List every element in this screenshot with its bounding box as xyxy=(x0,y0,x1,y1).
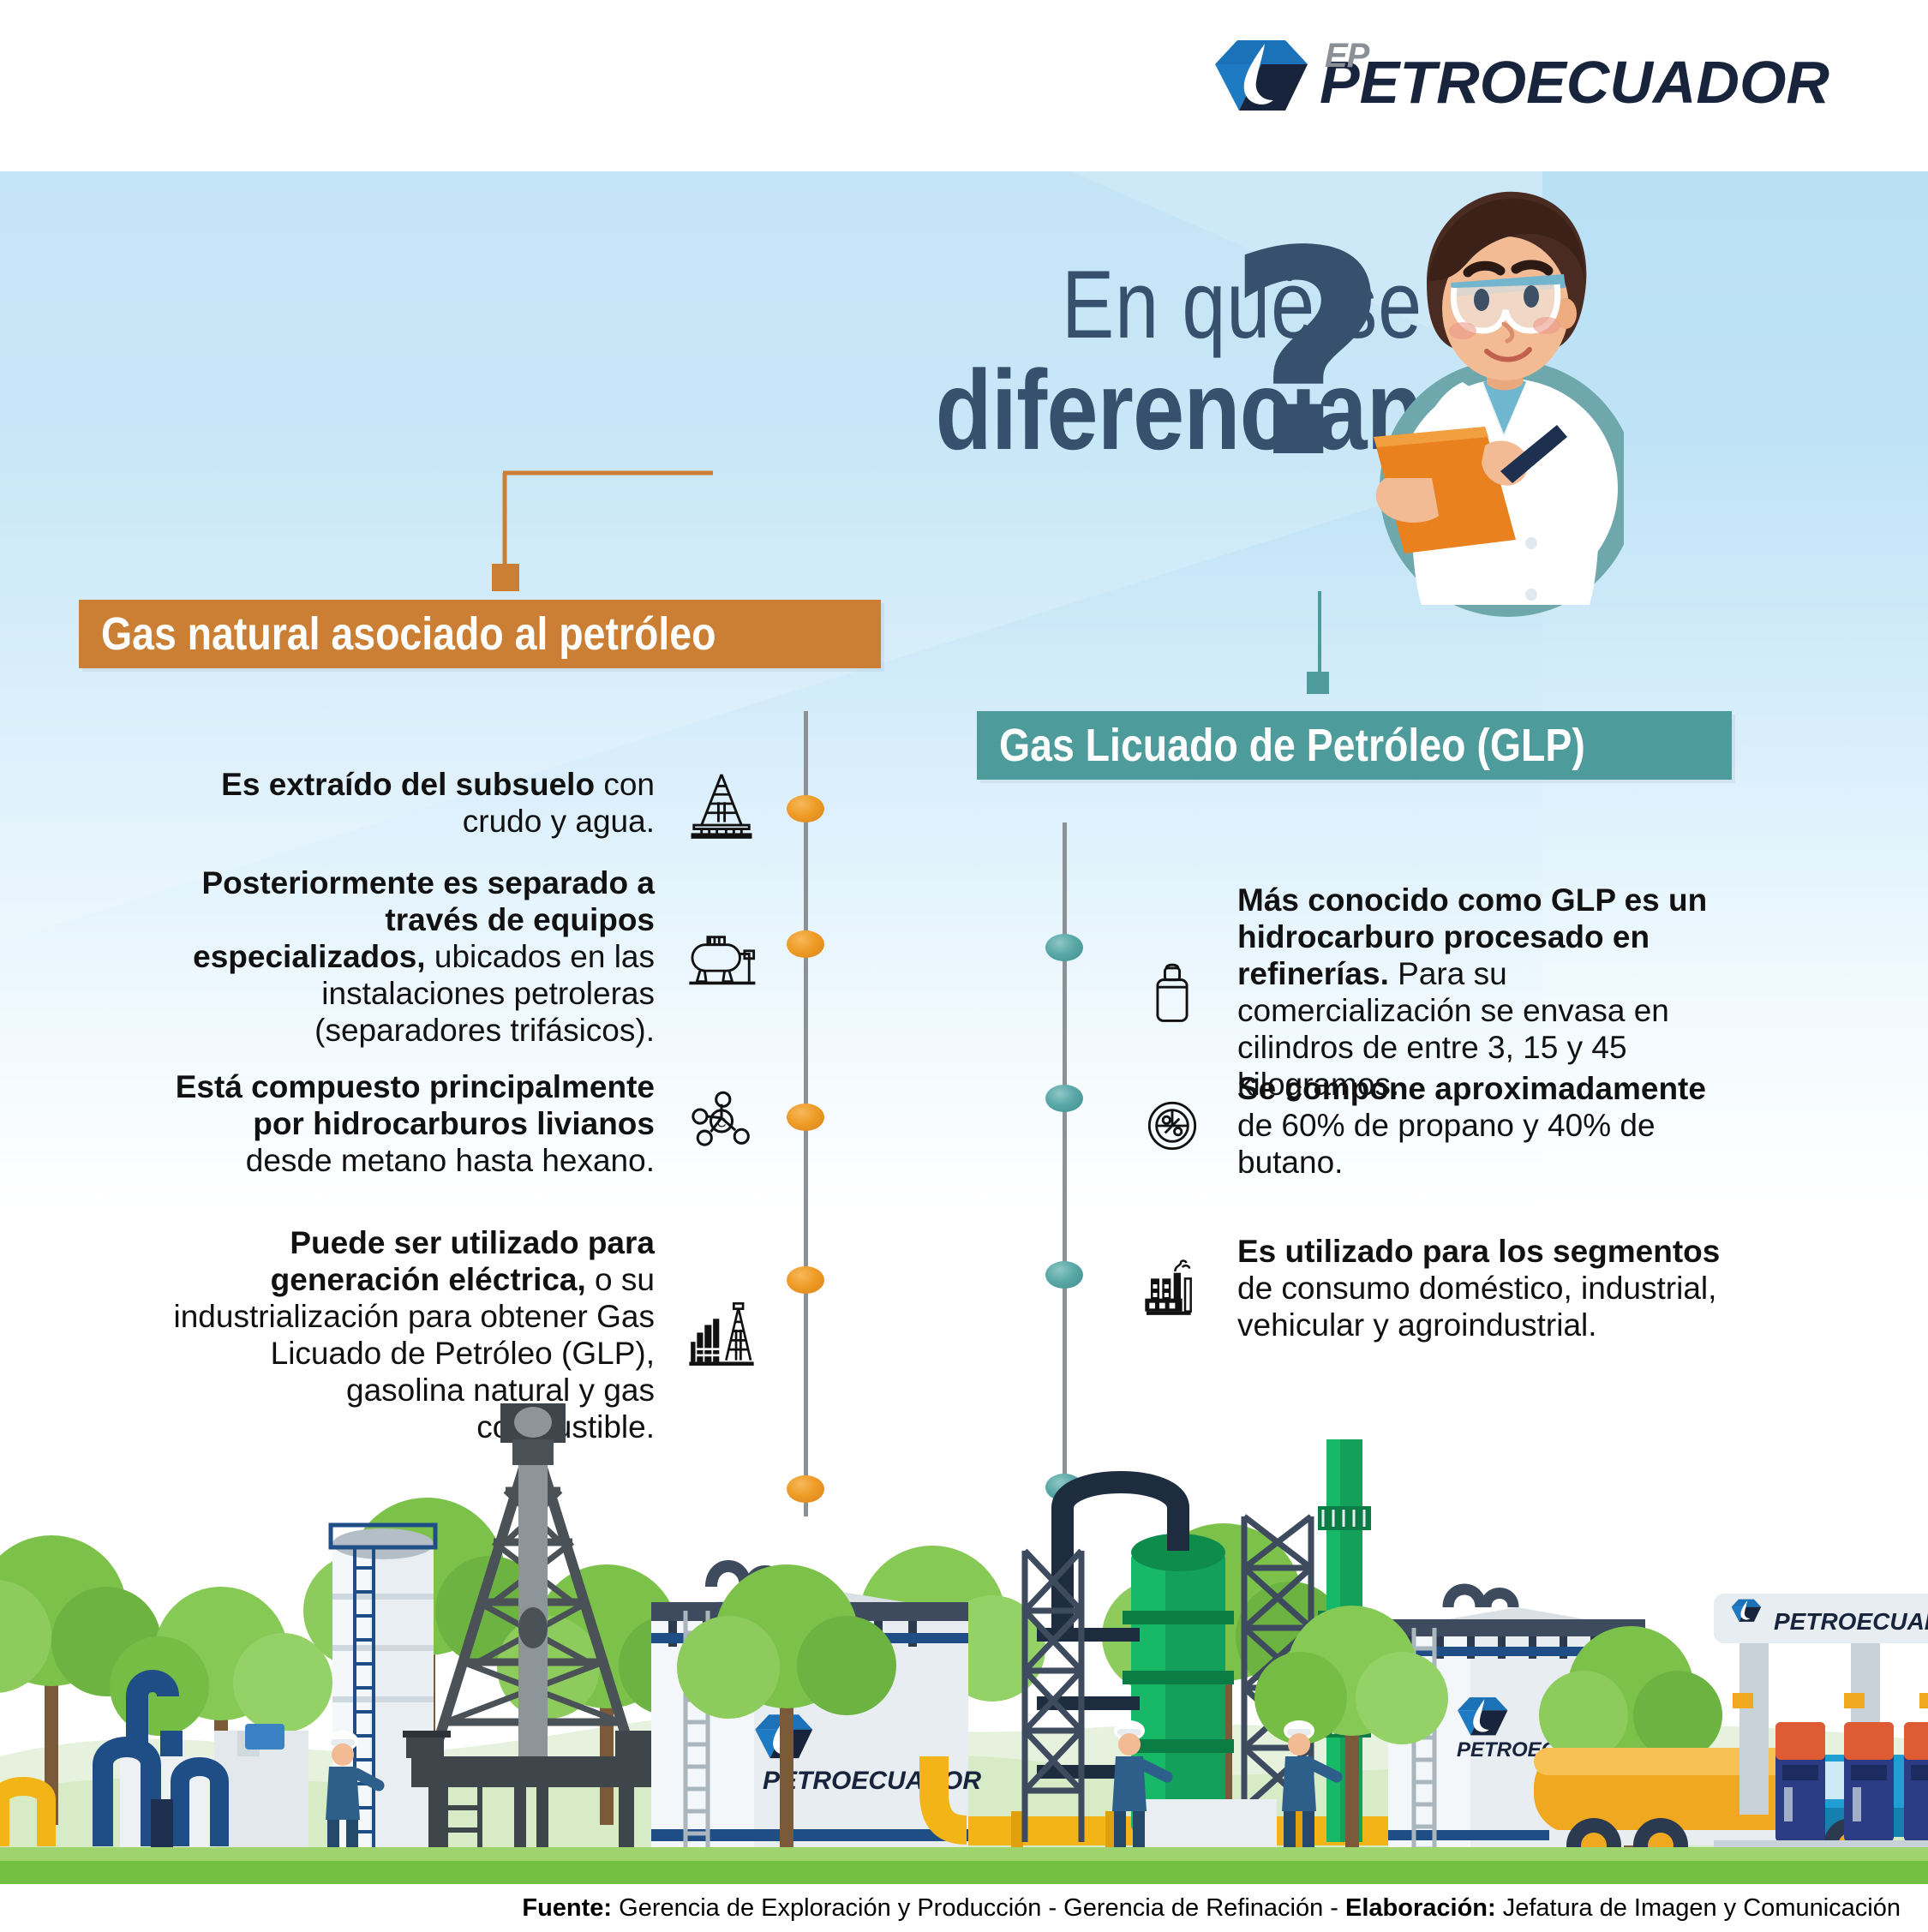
banner-gas-natural-label: Gas natural asociado al petróleo xyxy=(101,607,716,661)
brand-wordmark: EP PETROECUADOR xyxy=(1320,39,1829,112)
connector-right xyxy=(1307,591,1332,703)
list-item: Está compuesto principalmente por hidroc… xyxy=(163,1069,763,1180)
timeline-dot-right-2 xyxy=(1045,1085,1083,1112)
banner-glp-label: Gas Licuado de Petróleo (GLP) xyxy=(999,719,1585,772)
list-item: Posteriormente es separado a través de e… xyxy=(163,865,763,1050)
oil-derrick-icon xyxy=(680,763,763,845)
svg-text:PETROECUADOR: PETROECUADOR xyxy=(1774,1608,1928,1635)
right-item-2-rest: de 60% de propano y 40% de butano. xyxy=(1237,1108,1656,1180)
petroecuador-drop-hexagon-icon xyxy=(1213,39,1309,112)
gas-cylinder-icon xyxy=(1131,952,1213,1034)
timeline-dot-left-4 xyxy=(787,1266,824,1294)
left-item-3-text: Está compuesto principalmente por hidroc… xyxy=(166,1069,655,1180)
left-item-3-rest: desde metano hasta hexano. xyxy=(246,1143,655,1178)
right-item-2-bold: Se compone aproximadamente xyxy=(1237,1071,1706,1106)
facility-scene: PETROECUADOR xyxy=(0,1354,1928,1885)
timeline-dot-right-1 xyxy=(1045,934,1083,961)
left-item-1-text: Es extraído del subsuelo con crudo y agu… xyxy=(166,767,655,840)
right-item-3-text: Es utilizado para los segmentos de consu… xyxy=(1237,1234,1731,1344)
svg-text:C: C xyxy=(717,1116,727,1131)
percent-pie-chart-icon xyxy=(1131,1085,1213,1167)
list-item: Se compone aproximadamente de 60% de pro… xyxy=(1131,1071,1731,1181)
footer-credits: Fuente: Gerencia de Exploración y Produc… xyxy=(522,1894,1901,1923)
infographic-page: EP PETROECUADOR En qué se diferencian ? xyxy=(0,0,1928,1932)
timeline-dot-left-2 xyxy=(787,930,824,958)
factory-icon xyxy=(1131,1247,1213,1330)
carbon-molecule-icon: C xyxy=(680,1083,763,1165)
horizontal-separator-tank-icon xyxy=(680,916,763,998)
list-item: Más conocido como GLP es un hidrocarburo… xyxy=(1131,882,1731,1103)
scientist-illustration xyxy=(1332,180,1624,660)
list-item: Es utilizado para los segmentos de consu… xyxy=(1131,1234,1731,1344)
header: EP PETROECUADOR xyxy=(0,0,1928,171)
right-item-2-text: Se compone aproximadamente de 60% de pro… xyxy=(1237,1071,1731,1181)
brand-name-text: PETROECUADOR xyxy=(1320,52,1829,112)
connector-left xyxy=(463,463,720,600)
brand-ep-text: EP xyxy=(1325,39,1368,73)
footer-source-value: Gerencia de Exploración y Producción - G… xyxy=(612,1894,1345,1922)
timeline-dot-left-3 xyxy=(787,1104,824,1131)
right-item-3-rest: de consumo doméstico, industrial, vehicu… xyxy=(1237,1271,1716,1343)
footer-author-value: Jefatura de Imagen y Comunicación xyxy=(1496,1894,1901,1922)
svg-text:PETROECUADOR: PETROECUADOR xyxy=(763,1767,981,1795)
left-item-3-bold: Está compuesto principalmente por hidroc… xyxy=(176,1069,655,1141)
footer-source-label: Fuente: xyxy=(522,1894,612,1922)
footer: Fuente: Gerencia de Exploración y Produc… xyxy=(0,1884,1928,1932)
banner-glp[interactable]: Gas Licuado de Petróleo (GLP) xyxy=(977,711,1732,780)
banner-gas-natural[interactable]: Gas natural asociado al petróleo xyxy=(79,600,881,668)
facility-scene-svg: PETROECUADOR xyxy=(0,1354,1928,1885)
footer-author-label: Elaboración: xyxy=(1345,1894,1496,1922)
brand-logo: EP PETROECUADOR xyxy=(1213,34,1829,117)
timeline-dot-left-1 xyxy=(787,795,824,822)
list-item: Es extraído del subsuelo con crudo y agu… xyxy=(163,763,763,845)
right-item-3-bold: Es utilizado para los segmentos xyxy=(1237,1234,1720,1269)
left-item-1-bold: Es extraído del subsuelo xyxy=(221,767,595,802)
right-item-1-text: Más conocido como GLP es un hidrocarburo… xyxy=(1237,882,1731,1103)
timeline-dot-right-3 xyxy=(1045,1261,1083,1289)
left-item-2-text: Posteriormente es separado a través de e… xyxy=(166,865,655,1050)
